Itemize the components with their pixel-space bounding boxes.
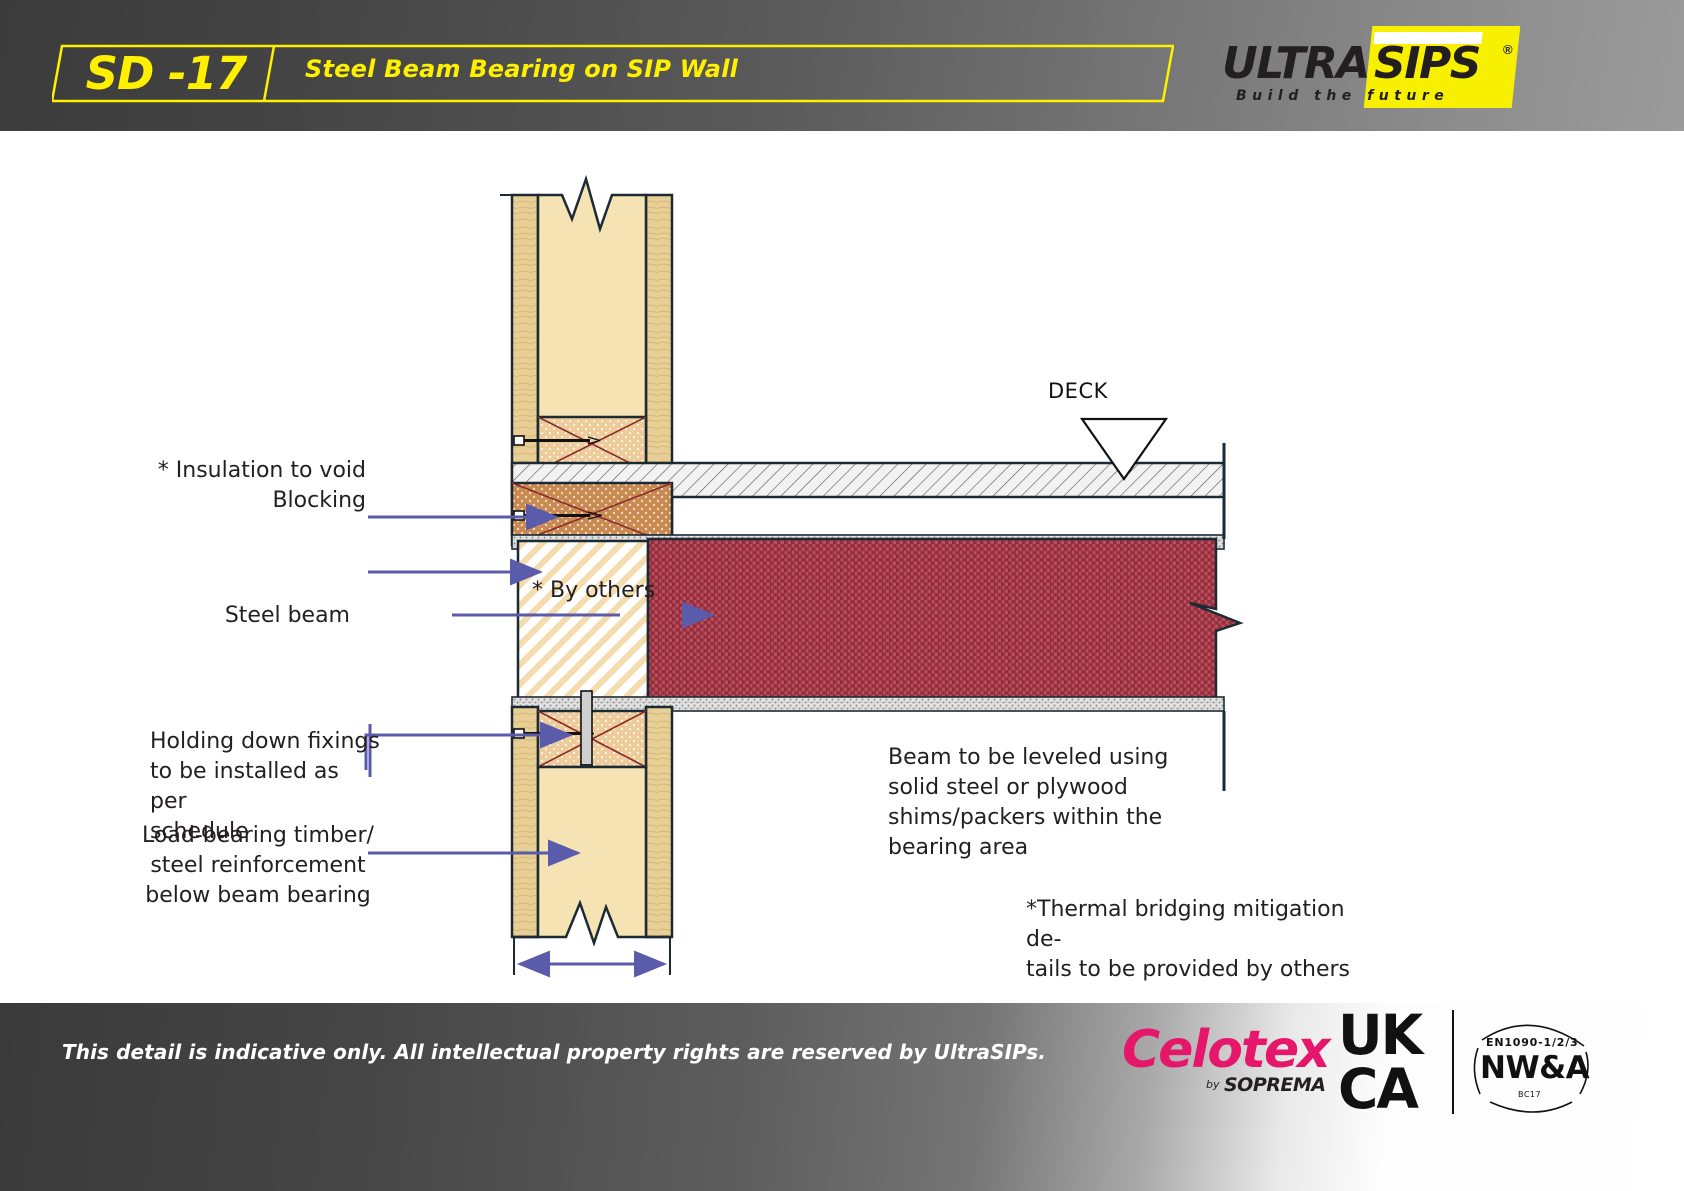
nwa-standard-code: EN1090-1/2/3 [1486, 1036, 1579, 1049]
celotex-logo: Celotex by SOPREMA [1122, 1016, 1322, 1116]
annotation-insulation-to-void-blocking: * Insulation to void Blocking [100, 456, 366, 516]
ukca-line-2: CA [1338, 1062, 1448, 1116]
steel-beam-section [648, 539, 1240, 701]
logo-tagline: Build the future [1236, 88, 1449, 104]
annotation-beam-leveling-note: Beam to be leveled using solid steel or … [888, 743, 1188, 863]
annotation-load-bearing-timber: Load-bearing timber/ steel reinforcement… [140, 821, 376, 911]
ukca-mark: UK CA [1338, 1008, 1448, 1120]
page-title: Steel Beam Bearing on SIP Wall [305, 55, 738, 83]
soprema-wordmark: SOPREMA [1224, 1074, 1325, 1096]
disclaimer-text: This detail is indicative only. All inte… [62, 1040, 1046, 1064]
by-others-label: * By others [532, 578, 655, 603]
nwa-code: BC17 [1518, 1090, 1541, 1099]
celotex-wordmark: Celotex [1122, 1020, 1329, 1080]
annotation-steel-beam: Steel beam [100, 601, 350, 631]
header-bar: SD -17 Steel Beam Bearing on SIP Wall UL… [0, 0, 1684, 131]
ultrasips-logo: ULTRA SIPS ® Build the future [1222, 26, 1522, 108]
deck-label: DECK [1048, 379, 1108, 403]
detail-code: SD -17 [66, 46, 266, 102]
logo-word-sips: SIPS [1374, 38, 1480, 89]
ukca-divider [1452, 1010, 1454, 1114]
nwa-certification-badge: EN1090-1/2/3 NW&A BC17 [1468, 1010, 1598, 1120]
logo-word-ultra: ULTRA [1222, 38, 1369, 89]
drawing-canvas: DECK * By others * Insulation to void Bl… [0, 131, 1684, 1003]
logo-registered-mark: ® [1503, 42, 1513, 57]
ukca-line-1: UK [1338, 1008, 1448, 1062]
nwa-name: NW&A [1480, 1050, 1589, 1086]
annotation-thermal-bridging-note: *Thermal bridging mitigation de- tails t… [1026, 895, 1356, 985]
by-others-insulation-block [518, 541, 648, 701]
celotex-by-label: by [1206, 1078, 1220, 1091]
width-dimension [514, 937, 670, 975]
